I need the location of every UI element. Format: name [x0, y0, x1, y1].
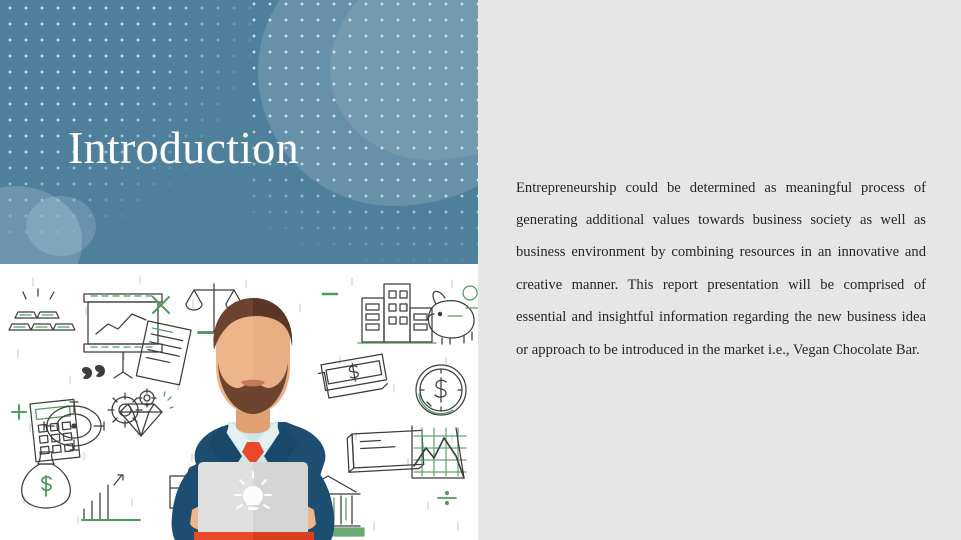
laptop-base-shading [253, 532, 314, 540]
title-panel: Introduction [0, 0, 478, 264]
page-title: Introduction [68, 120, 299, 176]
illustration-image [0, 264, 478, 540]
left-column: Introduction [0, 0, 478, 540]
dot-pattern-top-left [0, 0, 256, 234]
body-paragraph: Entrepreneurship could be determined as … [516, 172, 926, 366]
presentation-slide: Introduction [0, 0, 961, 540]
businessman-figure [0, 264, 478, 540]
